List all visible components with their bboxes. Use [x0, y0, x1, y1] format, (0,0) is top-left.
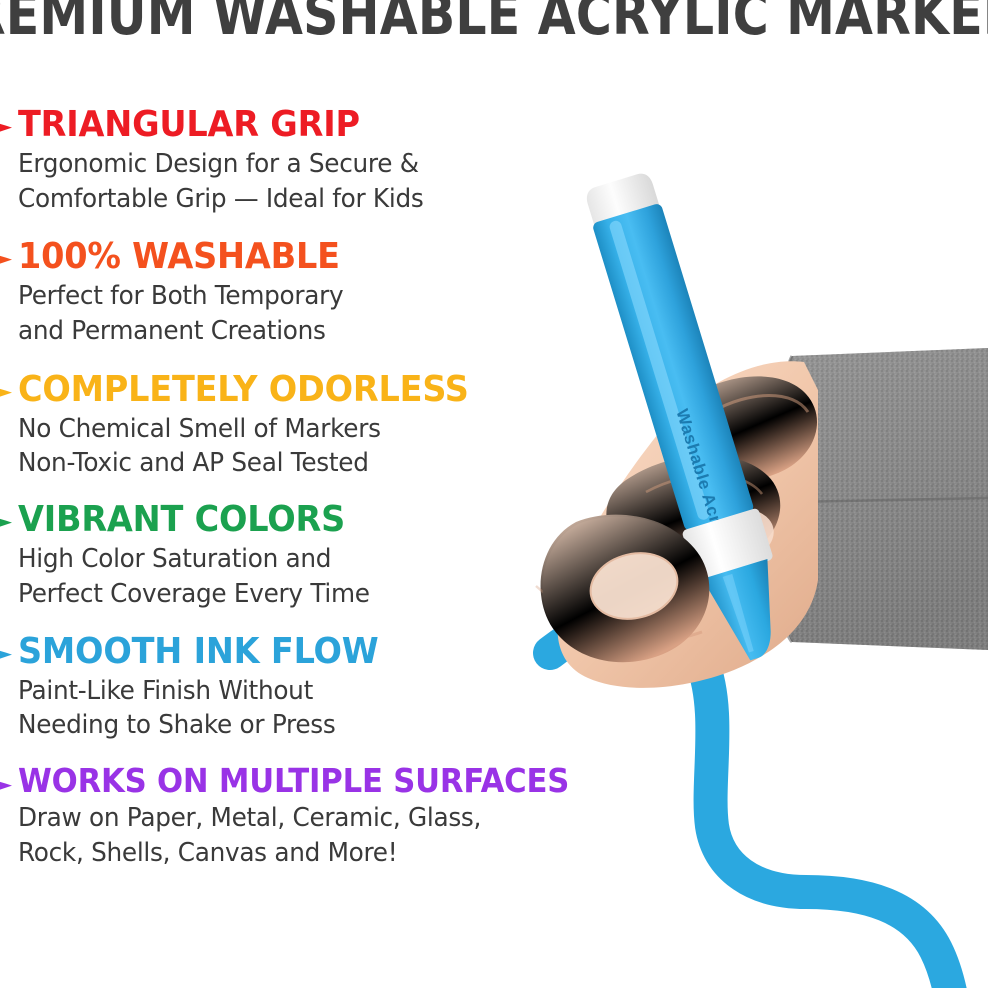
index-nail — [698, 503, 778, 567]
title-bar: PREMIUM WASHABLE ACRYLIC MARKERS — [0, 0, 988, 52]
arrow-bullet-icon — [0, 776, 16, 796]
feature-description-line: Rock, Shells, Canvas and More! — [18, 836, 602, 871]
feature-heading: SMOOTH INK FLOW — [18, 631, 578, 672]
arrow-bullet-icon — [0, 645, 16, 665]
arrow-bullet-icon — [0, 513, 16, 533]
product-infographic: PREMIUM WASHABLE ACRYLIC MARKERS TRIANGU… — [0, 0, 988, 988]
feature-description-line: High Color Saturation and — [18, 542, 602, 577]
feature-item-works-on-multiple-surfaces: WORKS ON MULTIPLE SURFACES Draw on Paper… — [0, 762, 620, 871]
feature-heading: VIBRANT COLORS — [18, 499, 578, 540]
feature-description: Ergonomic Design for a Secure & Comforta… — [18, 147, 602, 216]
feature-item-completely-odorless: COMPLETELY ODORLESS No Chemical Smell of… — [0, 369, 620, 481]
page-title: PREMIUM WASHABLE ACRYLIC MARKERS — [0, 0, 988, 44]
marker-nib — [702, 559, 794, 667]
feature-description-line: Non-Toxic and AP Seal Tested — [18, 446, 602, 481]
feature-heading: WORKS ON MULTIPLE SURFACES — [18, 762, 578, 800]
feature-description-line: No Chemical Smell of Markers — [18, 412, 602, 447]
feature-item-vibrant-colors: VIBRANT COLORS High Color Saturation and… — [0, 499, 620, 611]
feature-description-line: Paint-Like Finish Without — [18, 674, 602, 709]
feature-description: Draw on Paper, Metal, Ceramic, Glass, Ro… — [18, 801, 602, 870]
feature-heading: 100% WASHABLE — [18, 236, 578, 277]
marker-barrel-label: Washable Acrylic — [672, 407, 734, 555]
feature-description-line: Draw on Paper, Metal, Ceramic, Glass, — [18, 801, 602, 836]
feature-item-smooth-ink-flow: SMOOTH INK FLOW Paint-Like Finish Withou… — [0, 631, 620, 743]
feature-description-line: and Permanent Creations — [18, 314, 602, 349]
feature-heading: COMPLETELY ODORLESS — [18, 369, 578, 410]
feature-heading: TRIANGULAR GRIP — [18, 104, 578, 145]
arrow-bullet-icon — [0, 118, 16, 138]
arrow-bullet-icon — [0, 383, 16, 403]
feature-description: No Chemical Smell of Markers Non-Toxic a… — [18, 412, 602, 481]
arrow-bullet-icon — [0, 250, 16, 270]
feature-description: Paint-Like Finish Without Needing to Sha… — [18, 674, 602, 743]
feature-description-line: Needing to Shake or Press — [18, 708, 602, 743]
feature-description-line: Ergonomic Design for a Secure & — [18, 147, 602, 182]
feature-list: TRIANGULAR GRIP Ergonomic Design for a S… — [0, 104, 620, 871]
feature-description-line: Comfortable Grip — Ideal for Kids — [18, 182, 602, 217]
feature-description: Perfect for Both Temporary and Permanent… — [18, 279, 602, 348]
feature-description-line: Perfect Coverage Every Time — [18, 577, 602, 612]
feature-description: High Color Saturation and Perfect Covera… — [18, 542, 602, 611]
marker-collar — [681, 507, 773, 582]
feature-item-triangular-grip: TRIANGULAR GRIP Ergonomic Design for a S… — [0, 104, 620, 216]
feature-description-line: Perfect for Both Temporary — [18, 279, 602, 314]
feature-item-100-washable: 100% WASHABLE Perfect for Both Temporary… — [0, 236, 620, 348]
sweater-sleeve — [776, 348, 988, 650]
